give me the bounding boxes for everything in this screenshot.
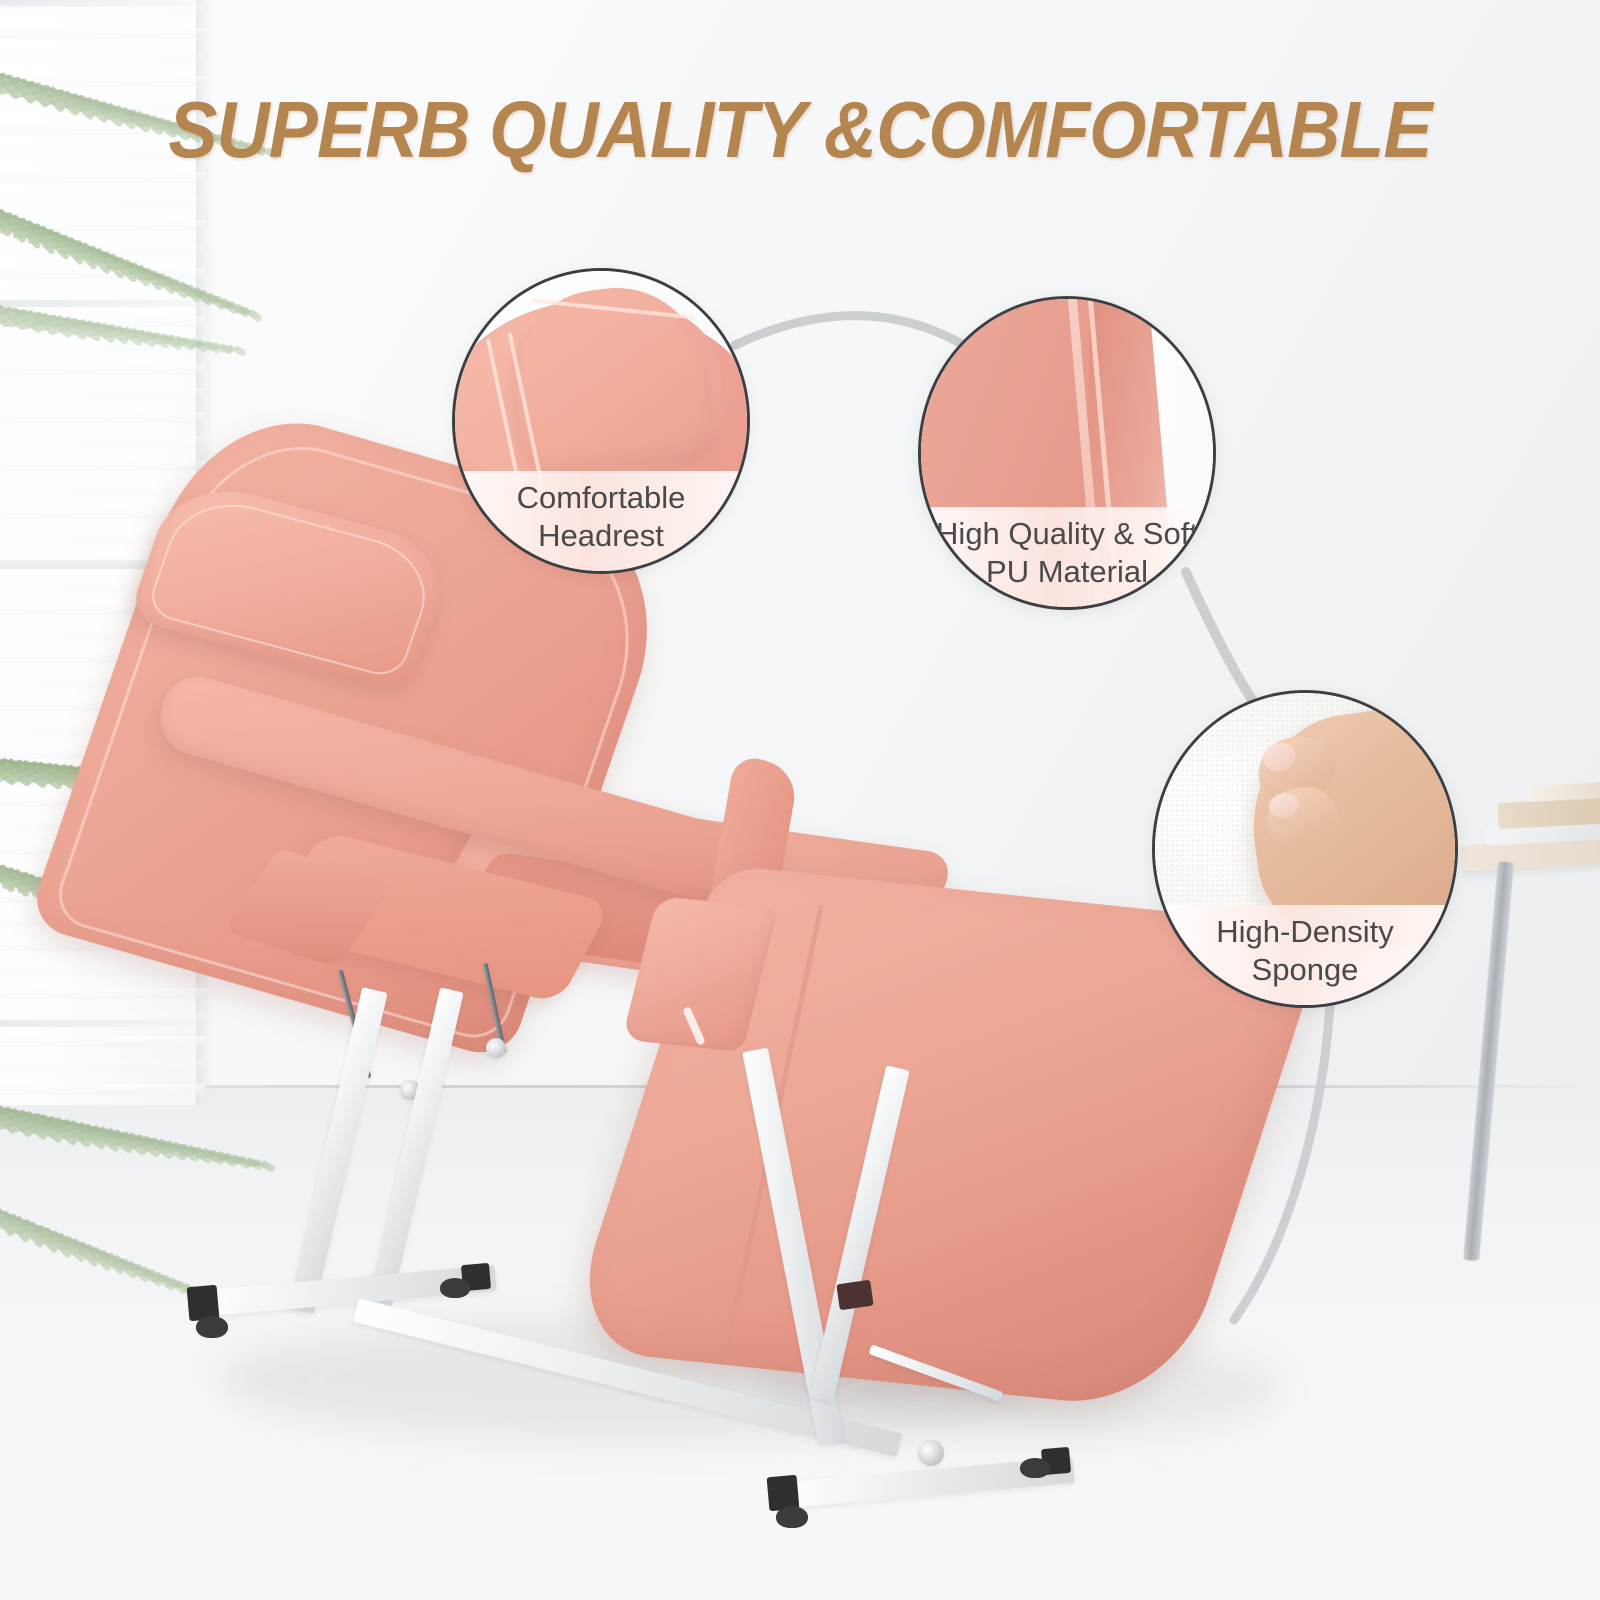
callout-label-line1: High-Density: [1155, 913, 1455, 951]
callout-label-line2: Headrest: [455, 517, 747, 555]
side-table-book-middle: [1497, 797, 1600, 829]
frame-foot-pad-right-rear: [1020, 1458, 1050, 1478]
frame-leg-front-left-inner: [366, 987, 464, 1314]
callout-label-line1: High Quality & Soft: [921, 515, 1213, 553]
frame-pivot-bolt: [918, 1440, 944, 1466]
frame-foot-pad-left-front: [196, 1316, 228, 1338]
callout-label-line1: Comfortable: [455, 479, 747, 517]
frame-foot-pad-right-front: [776, 1506, 808, 1528]
callout-label-band: High Quality & Soft PU Material: [921, 507, 1213, 607]
callout-label-band: Comfortable Headrest: [455, 471, 747, 571]
frame-leg-front-left: [288, 987, 388, 1314]
callout-comfortable-headrest[interactable]: Comfortable Headrest: [452, 268, 750, 574]
callout-label-line2: PU Material: [921, 553, 1213, 591]
frame-foot-pad-left-rear: [440, 1278, 470, 1298]
legrest-bracket: [836, 1280, 873, 1310]
strut-bolt-right: [486, 1038, 506, 1058]
callout-label-line2: Sponge: [1155, 951, 1455, 989]
callout-high-density-sponge[interactable]: High-Density Sponge: [1152, 690, 1458, 1008]
product-marketing-image: SUPERB QUALITY &COMFORTABLE: [0, 0, 1600, 1600]
callout-pu-material[interactable]: High Quality & Soft PU Material: [918, 296, 1216, 610]
callout-label-band: High-Density Sponge: [1155, 905, 1455, 1005]
